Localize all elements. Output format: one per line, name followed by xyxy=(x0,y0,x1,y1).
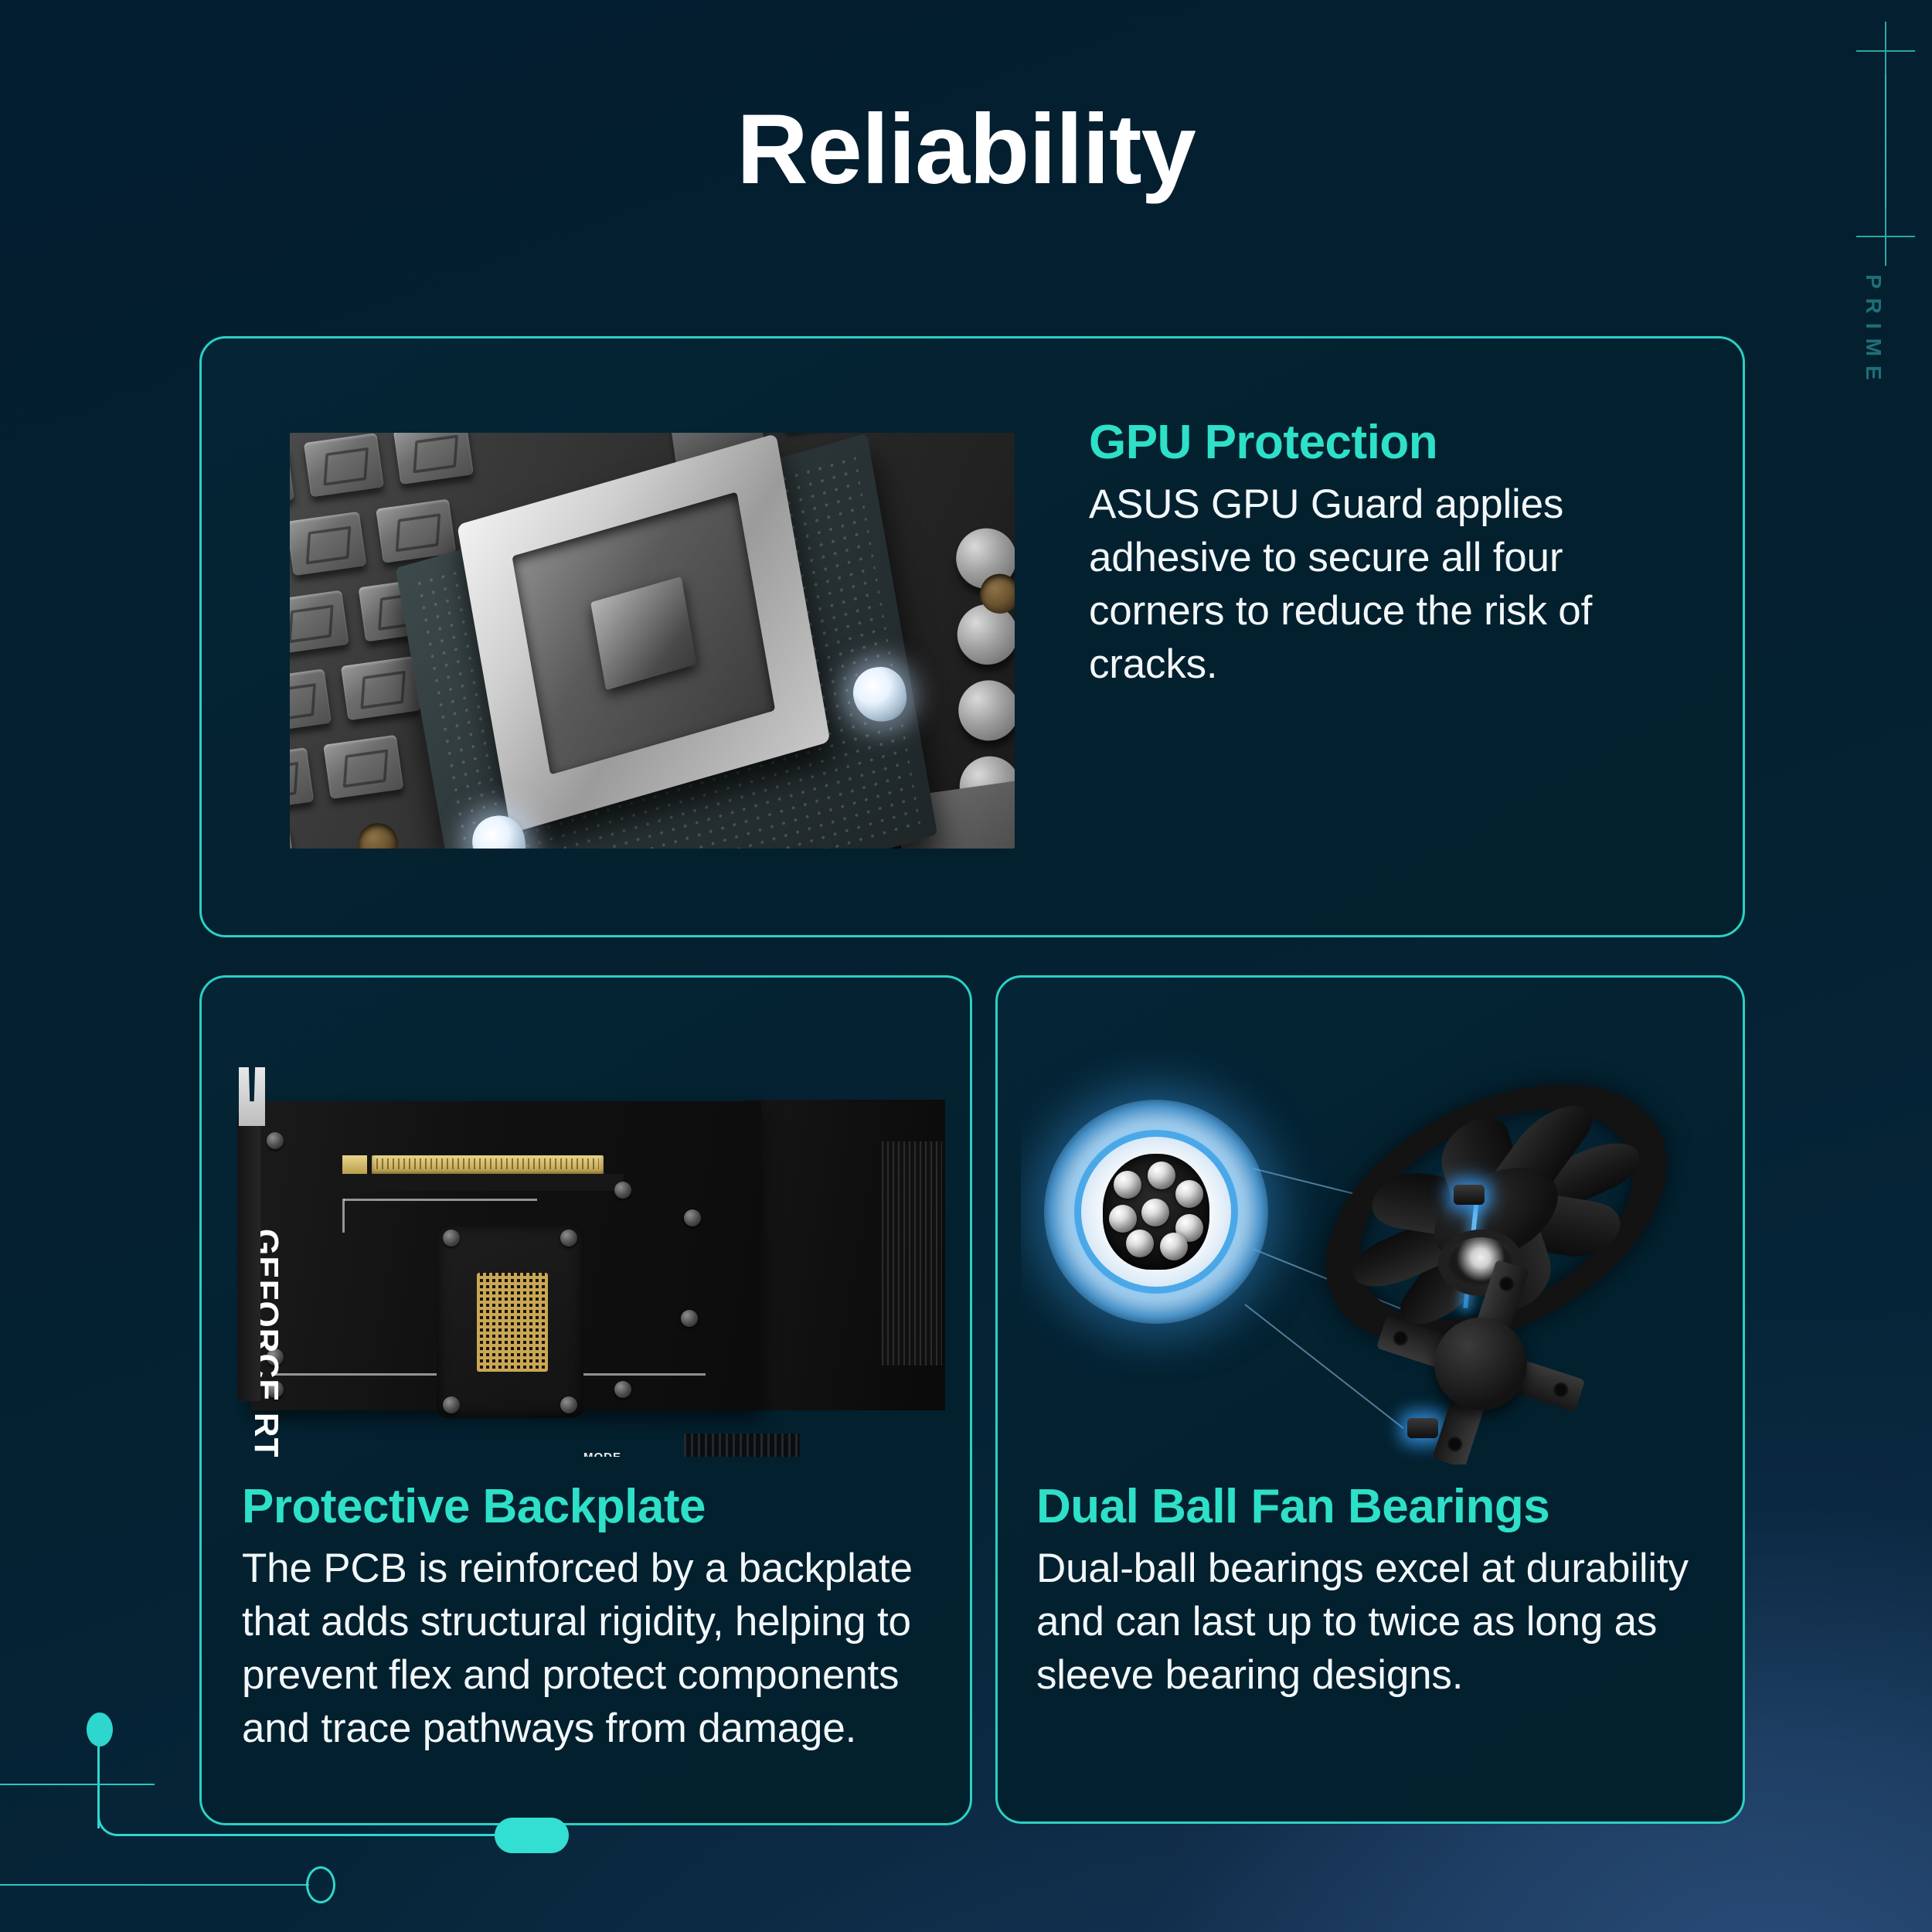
infographic-page: Reliability PRIME xyxy=(0,0,1932,1932)
fan-bearing-diagram xyxy=(1021,1016,1716,1464)
card-body: ASUS GPU Guard applies adhesive to secur… xyxy=(1089,478,1645,692)
gpu-die-closeup-image xyxy=(290,433,1015,849)
right-rail: PRIME xyxy=(1839,0,1932,618)
circuit-pill xyxy=(495,1818,569,1853)
backplate-image: MODE GEFORCE RTX™ xyxy=(234,1016,945,1457)
prime-brand-label: PRIME xyxy=(1861,274,1886,389)
card-body: Dual-ball bearings excel at durability a… xyxy=(1036,1543,1732,1702)
page-title: Reliability xyxy=(0,100,1932,199)
circuit-elbow xyxy=(97,1793,144,1836)
card-heading: Dual Ball Fan Bearings xyxy=(1036,1480,1732,1533)
circuit-trace xyxy=(0,1784,155,1785)
card-gpu-protection-text: GPU Protection ASUS GPU Guard applies ad… xyxy=(1089,416,1645,692)
card-heading: Protective Backplate xyxy=(242,1480,953,1533)
circuit-dot xyxy=(87,1713,113,1747)
circuit-decoration xyxy=(0,1677,696,1932)
card-gpu-protection: GPU Protection ASUS GPU Guard applies ad… xyxy=(199,336,1745,937)
bearing-node-icon xyxy=(1454,1185,1485,1205)
plus-mark-icon xyxy=(1856,207,1915,266)
plus-mark-icon xyxy=(1856,22,1915,80)
circuit-ring xyxy=(306,1866,335,1903)
bearing-magnified-inset xyxy=(1044,1100,1268,1324)
card-dual-ball-fan-bearings-text: Dual Ball Fan Bearings Dual-ball bearing… xyxy=(1036,1480,1732,1702)
backplate-mode-label: MODE xyxy=(583,1451,621,1457)
circuit-trace xyxy=(143,1834,498,1836)
card-dual-ball-fan-bearings: Dual Ball Fan Bearings Dual-ball bearing… xyxy=(995,975,1745,1824)
card-heading: GPU Protection xyxy=(1089,416,1645,469)
circuit-trace xyxy=(0,1884,309,1886)
fan-hub-mount xyxy=(1353,1248,1608,1464)
